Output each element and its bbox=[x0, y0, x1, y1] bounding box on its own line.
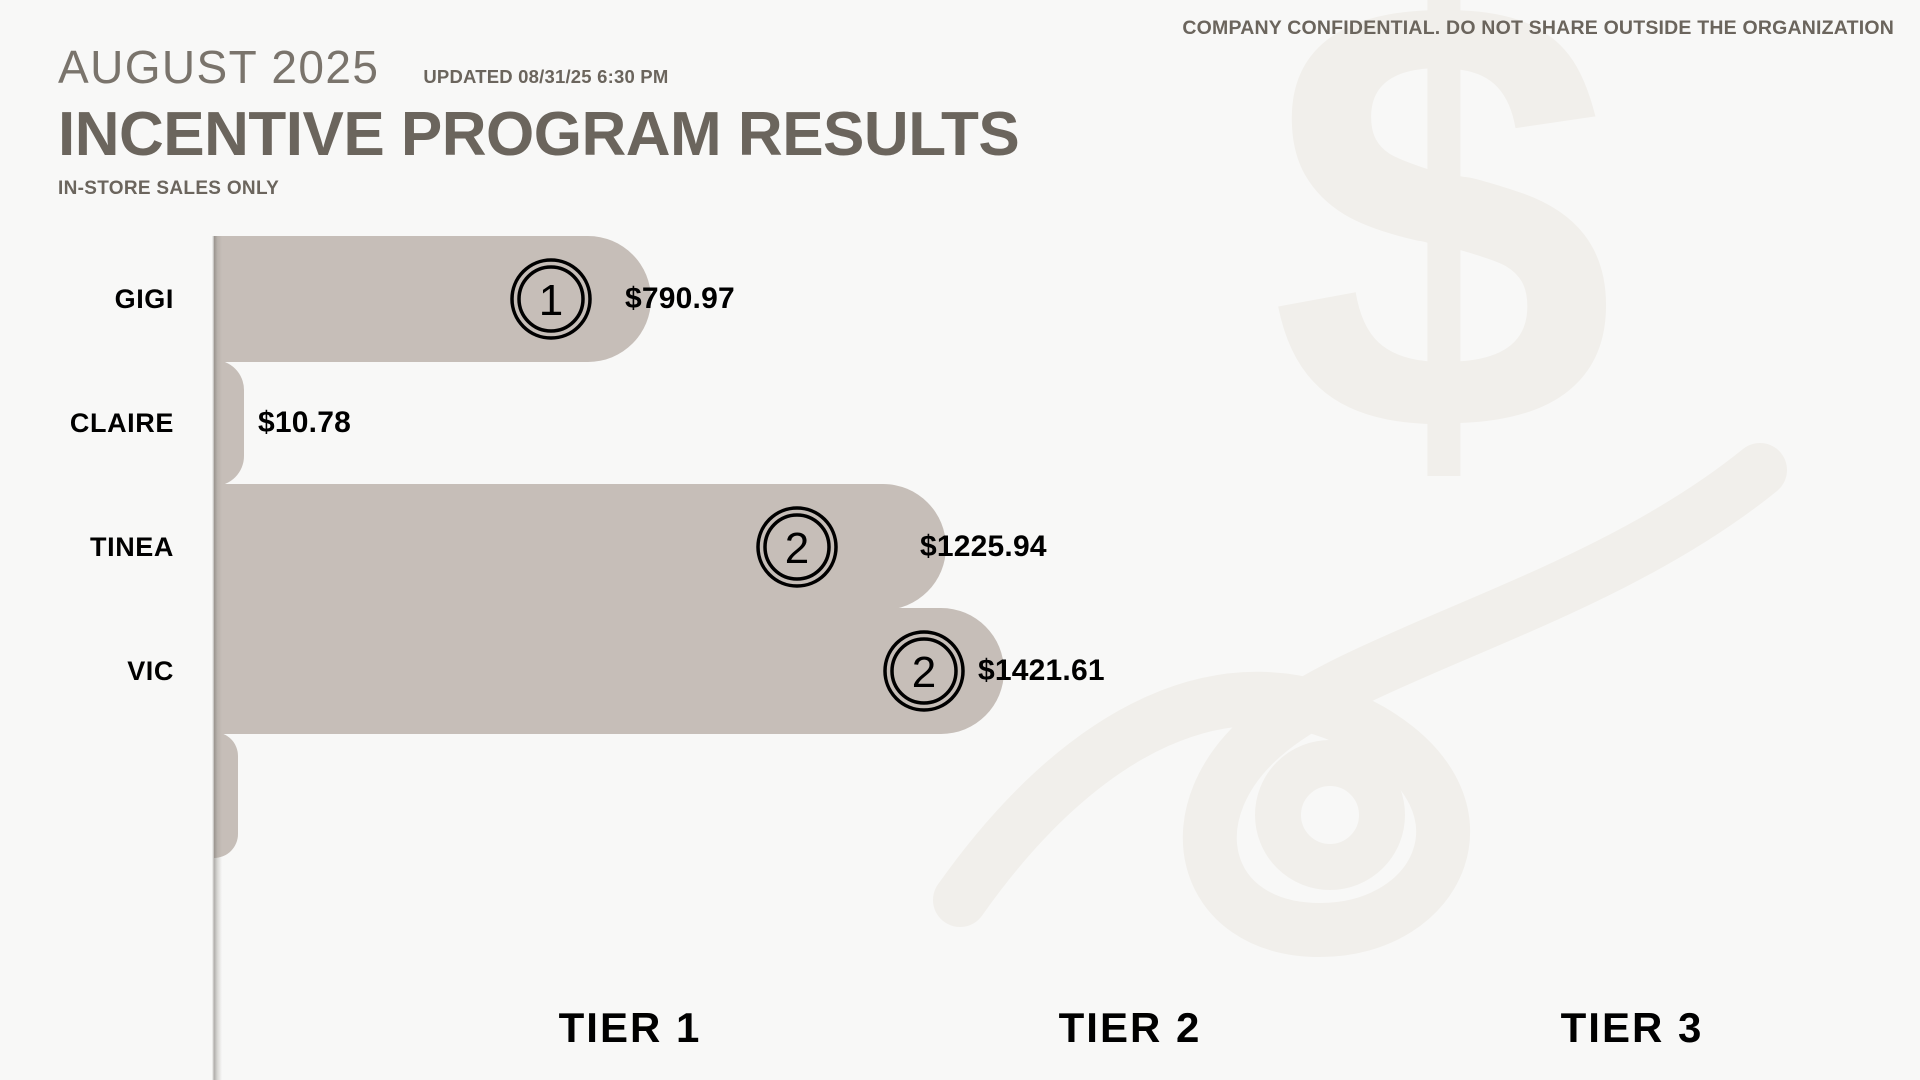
svg-text:2: 2 bbox=[912, 648, 936, 697]
bar-category-label: CLAIRE bbox=[0, 360, 190, 486]
bar-value-label: $1225.94 bbox=[920, 530, 1047, 564]
period-title: AUGUST 2025 bbox=[58, 44, 379, 90]
svg-text:2: 2 bbox=[785, 524, 809, 573]
bar-row: GIGI1$790.97 bbox=[0, 236, 1920, 362]
chart-baseline-axis bbox=[212, 236, 222, 1080]
tier-label: TIER 2 bbox=[1059, 1004, 1202, 1052]
title-row: AUGUST 2025 UPDATED 08/31/25 6:30 PM bbox=[58, 44, 1019, 90]
bar-value-label: $1421.61 bbox=[978, 654, 1105, 688]
horizontal-bar-chart: GIGI1$790.97CLAIRE$10.78TINEA2$1225.94VI… bbox=[0, 236, 1920, 1080]
svg-text:1: 1 bbox=[539, 276, 563, 325]
tier-label: TIER 1 bbox=[559, 1004, 702, 1052]
bar-value-label: $790.97 bbox=[625, 282, 735, 316]
bar-row: CLAIRE$10.78 bbox=[0, 360, 1920, 486]
bar-row: VIC2$1421.61 bbox=[0, 608, 1920, 734]
title-block: AUGUST 2025 UPDATED 08/31/25 6:30 PM INC… bbox=[58, 44, 1019, 198]
rank-badge: 2 bbox=[755, 505, 839, 589]
tier-axis-labels: TIER 1TIER 2TIER 3 bbox=[0, 992, 1920, 1052]
tier-label: TIER 3 bbox=[1561, 1004, 1704, 1052]
bar-category-label: VIC bbox=[0, 608, 190, 734]
page-subtitle: IN-STORE SALES ONLY bbox=[58, 179, 1019, 198]
bar-category-label: TINEA bbox=[0, 484, 190, 610]
rank-badge: 2 bbox=[882, 629, 966, 713]
bar-row bbox=[0, 732, 1920, 858]
bar-category-label: GIGI bbox=[0, 236, 190, 362]
bar-row: TINEA2$1225.94 bbox=[0, 484, 1920, 610]
page-title: INCENTIVE PROGRAM RESULTS bbox=[58, 104, 1019, 166]
confidentiality-notice: COMPANY CONFIDENTIAL. DO NOT SHARE OUTSI… bbox=[1182, 17, 1894, 40]
rank-badge: 1 bbox=[509, 257, 593, 341]
bar-value-label: $10.78 bbox=[258, 406, 351, 440]
last-updated-timestamp: UPDATED 08/31/25 6:30 PM bbox=[423, 68, 668, 87]
